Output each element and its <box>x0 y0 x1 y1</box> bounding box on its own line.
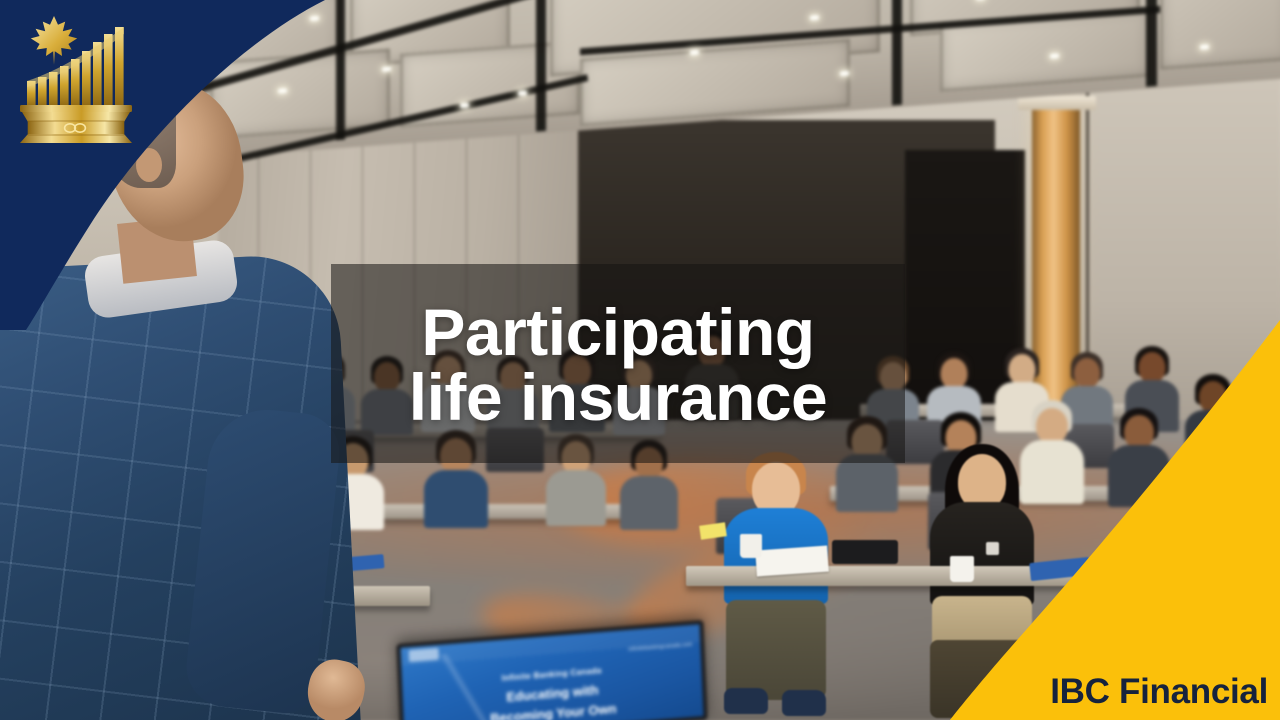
coffee-cup <box>950 556 974 582</box>
speaker-ear <box>136 148 162 182</box>
slide-logo-icon <box>409 648 439 662</box>
laptop-bag <box>832 540 898 564</box>
shoe <box>724 688 768 714</box>
video-thumbnail: infinitebankingcanada.com Infinite Banki… <box>0 0 1280 720</box>
seated-legs <box>726 600 826 700</box>
title-line-2: life insurance <box>409 365 828 430</box>
shoe <box>782 690 826 716</box>
coffee-cup <box>740 534 762 558</box>
maple-leaf-icon <box>31 16 77 65</box>
sticky-note <box>699 522 727 539</box>
title-line-1: Participating <box>421 300 814 365</box>
paper-handout <box>755 546 829 577</box>
seated-legs-lower <box>930 640 1034 718</box>
page-title: Participating life insurance <box>331 266 905 464</box>
ibc-financial-pillar-logo <box>8 12 146 144</box>
pillar-base <box>20 112 132 143</box>
brand-name: IBC Financial <box>1050 672 1268 712</box>
